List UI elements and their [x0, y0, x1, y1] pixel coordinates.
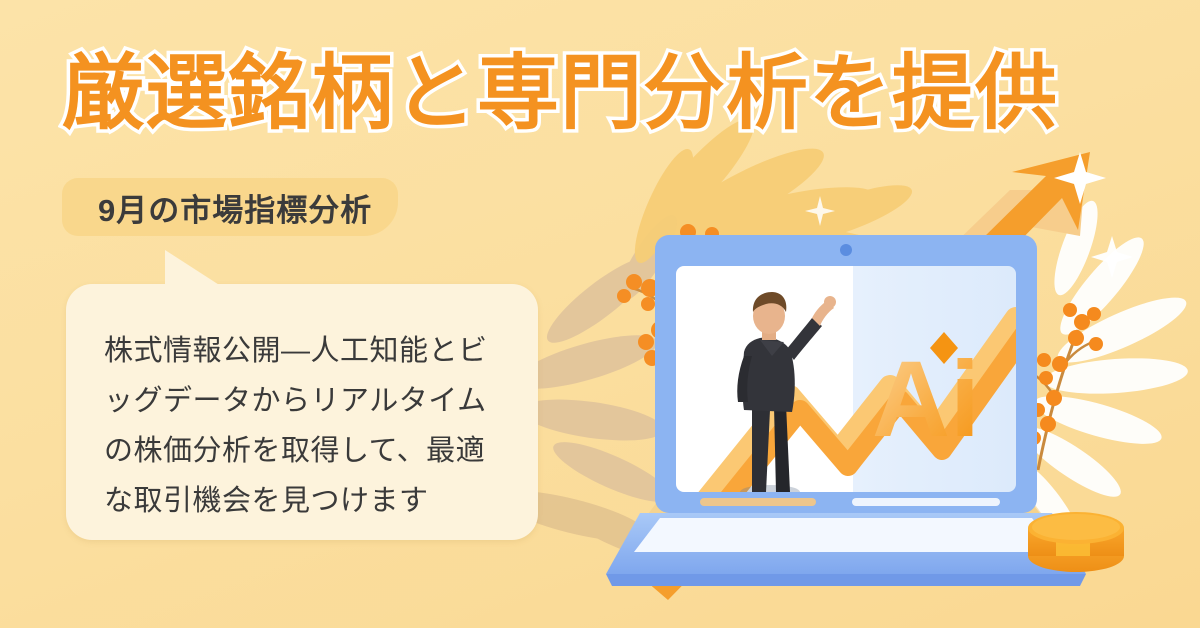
foliage-right — [1005, 196, 1193, 547]
sparkle-icon-arrow — [1054, 152, 1106, 204]
rising-arrow — [628, 152, 1090, 600]
sparkle-icon-small — [805, 196, 835, 226]
sparkle-icon — [1091, 236, 1133, 278]
berry-sprig-left — [617, 224, 719, 366]
page-title: 厳選銘柄と専門分析を提供 — [62, 46, 1152, 142]
speech-bubble-tail — [165, 250, 227, 290]
laptop: Ai — [655, 235, 1037, 534]
speech-bubble-text: 株式情報公開—人工知能とビッグデータからリアルタイムの株価分析を取得して、最適な… — [104, 326, 508, 526]
gold-coin — [1028, 512, 1124, 572]
promo-banner: Ai — [0, 0, 1200, 628]
ai-logo: Ai — [872, 338, 980, 459]
foliage-left — [492, 107, 917, 576]
status-badge: 9月の市場指標分析 — [62, 178, 398, 236]
laptop-base — [606, 513, 1086, 586]
berry-sprig-right — [1020, 303, 1103, 470]
businessman — [737, 292, 836, 499]
